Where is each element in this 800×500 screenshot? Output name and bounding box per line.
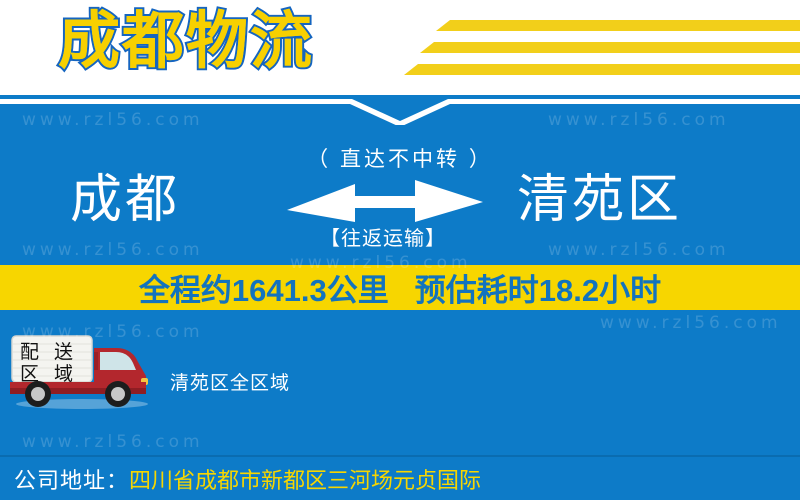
svg-text:配: 配 (20, 341, 39, 363)
round-trip-note: 【往返运输】 (283, 222, 483, 251)
watermark: www.rzl56.com (548, 240, 730, 260)
coverage-area-text: 清苑区全区域 (170, 368, 290, 395)
banner-header: 成都物流 成都物流 (0, 0, 800, 95)
direct-shipping-note: （ 直达不中转 ） (0, 143, 800, 173)
page-title: 成都物流 (58, 4, 314, 80)
watermark: www.rzl56.com (600, 313, 782, 333)
decor-stripe-3 (404, 64, 800, 75)
svg-text:送: 送 (54, 341, 73, 363)
svg-text:域: 域 (54, 363, 73, 385)
metrics-band: 全程约1641.3公里 预估耗时18.2小时 (0, 265, 800, 310)
destination-city: 清苑区 (517, 170, 682, 230)
address-label: 公司地址： (14, 463, 129, 495)
company-address: 公司地址： 四川省成都市新都区三河场元贞国际 (0, 457, 800, 500)
chevron-divider (0, 95, 800, 125)
decor-stripe-1 (436, 20, 800, 31)
address-value: 四川省成都市新都区三河场元贞国际 (129, 463, 481, 495)
origin-city: 成都 (70, 170, 180, 230)
watermark: www.rzl56.com (22, 432, 204, 452)
logistics-banner: 成都物流 成都物流 （ 直达不中转 ） 成都 【往返运输】 清苑区 全程约164… (0, 0, 800, 500)
duration-text: 预估耗时18.2小时 (415, 265, 661, 310)
double-arrow-icon (285, 178, 485, 226)
decor-stripe-2 (420, 42, 800, 53)
distance-text: 全程约1641.3公里 (139, 265, 389, 310)
delivery-truck-icon: 配 送 区 域 (8, 332, 156, 410)
watermark: www.rzl56.com (22, 240, 204, 260)
